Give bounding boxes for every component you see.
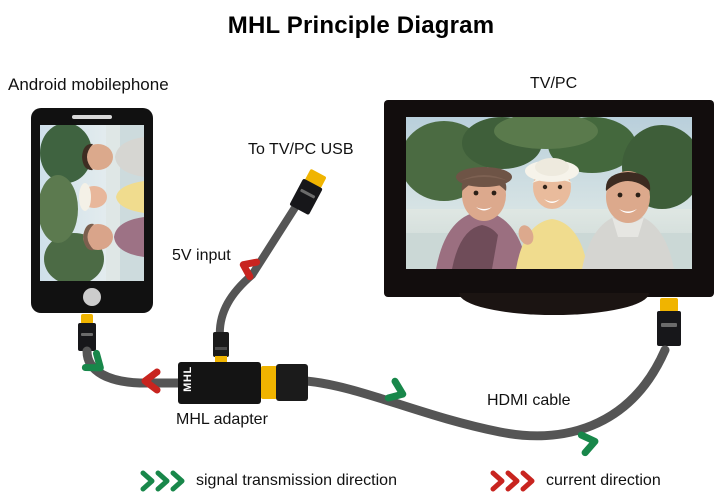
legend-current-label: current direction: [546, 472, 661, 490]
connector-body: [657, 311, 681, 346]
connector-body: [213, 332, 229, 357]
arrow-signal-hdmi-to-tv: [581, 433, 596, 453]
tv-screen: [406, 117, 692, 269]
legend-signal-label: signal transmission direction: [196, 472, 397, 490]
connector-band: [81, 333, 93, 336]
arrow-signal-hdmi-mid: [388, 381, 406, 402]
phone-earpiece-speaker: [72, 115, 112, 119]
connector-body: [78, 323, 96, 351]
legend-item-current: current direction: [490, 470, 661, 492]
phone-home-button[interactable]: [83, 288, 101, 306]
usb-connector: [289, 168, 328, 215]
phone-family-photo: [40, 125, 144, 281]
power-input-label: 5V input: [172, 247, 231, 265]
arrow-signal-phone-out: [85, 353, 106, 375]
connector-band: [661, 323, 677, 327]
page-title: MHL Principle Diagram: [0, 12, 722, 40]
adapter-label: MHL adapter: [176, 411, 268, 429]
phone-mhl-connector: [78, 314, 96, 351]
arrow-current-5v-input: [240, 257, 257, 276]
usb-target-label: To TV/PC USB: [248, 141, 354, 159]
hdmi-cable-path: [306, 350, 665, 436]
tv-hdmi-connector: [657, 298, 681, 346]
tv-label: TV/PC: [530, 75, 577, 93]
connector-band: [215, 347, 227, 350]
connector-tip: [660, 298, 678, 312]
tv-pc-display: [384, 100, 714, 297]
hdmi-cable-label: HDMI cable: [487, 392, 571, 410]
phone-to-adapter-cable: [87, 351, 182, 383]
adapter-micro-usb-connector: [213, 332, 229, 365]
adapter-brand-text: MHL: [182, 358, 194, 400]
mhl-adapter: MHL: [178, 362, 261, 404]
legend: signal transmission direction current di…: [0, 468, 722, 504]
triple-chevron-right-icon: [140, 470, 188, 492]
triple-chevron-right-icon: [490, 470, 538, 492]
adapter-hdmi-connector-shell: [276, 364, 308, 401]
legend-item-signal: signal transmission direction: [140, 470, 397, 492]
phone-label: Android mobilephone: [8, 75, 169, 95]
android-phone: [31, 108, 153, 313]
phone-screen: [40, 125, 144, 281]
adapter-hdmi-port: [261, 366, 277, 399]
arrow-current-to-phone: [145, 372, 157, 390]
tv-family-photo: [406, 117, 692, 269]
usb-power-cable-path: [220, 206, 296, 338]
tv-stand: [459, 293, 649, 315]
diagram-canvas: MHL Principle Diagram Android mobilephon…: [0, 0, 722, 504]
